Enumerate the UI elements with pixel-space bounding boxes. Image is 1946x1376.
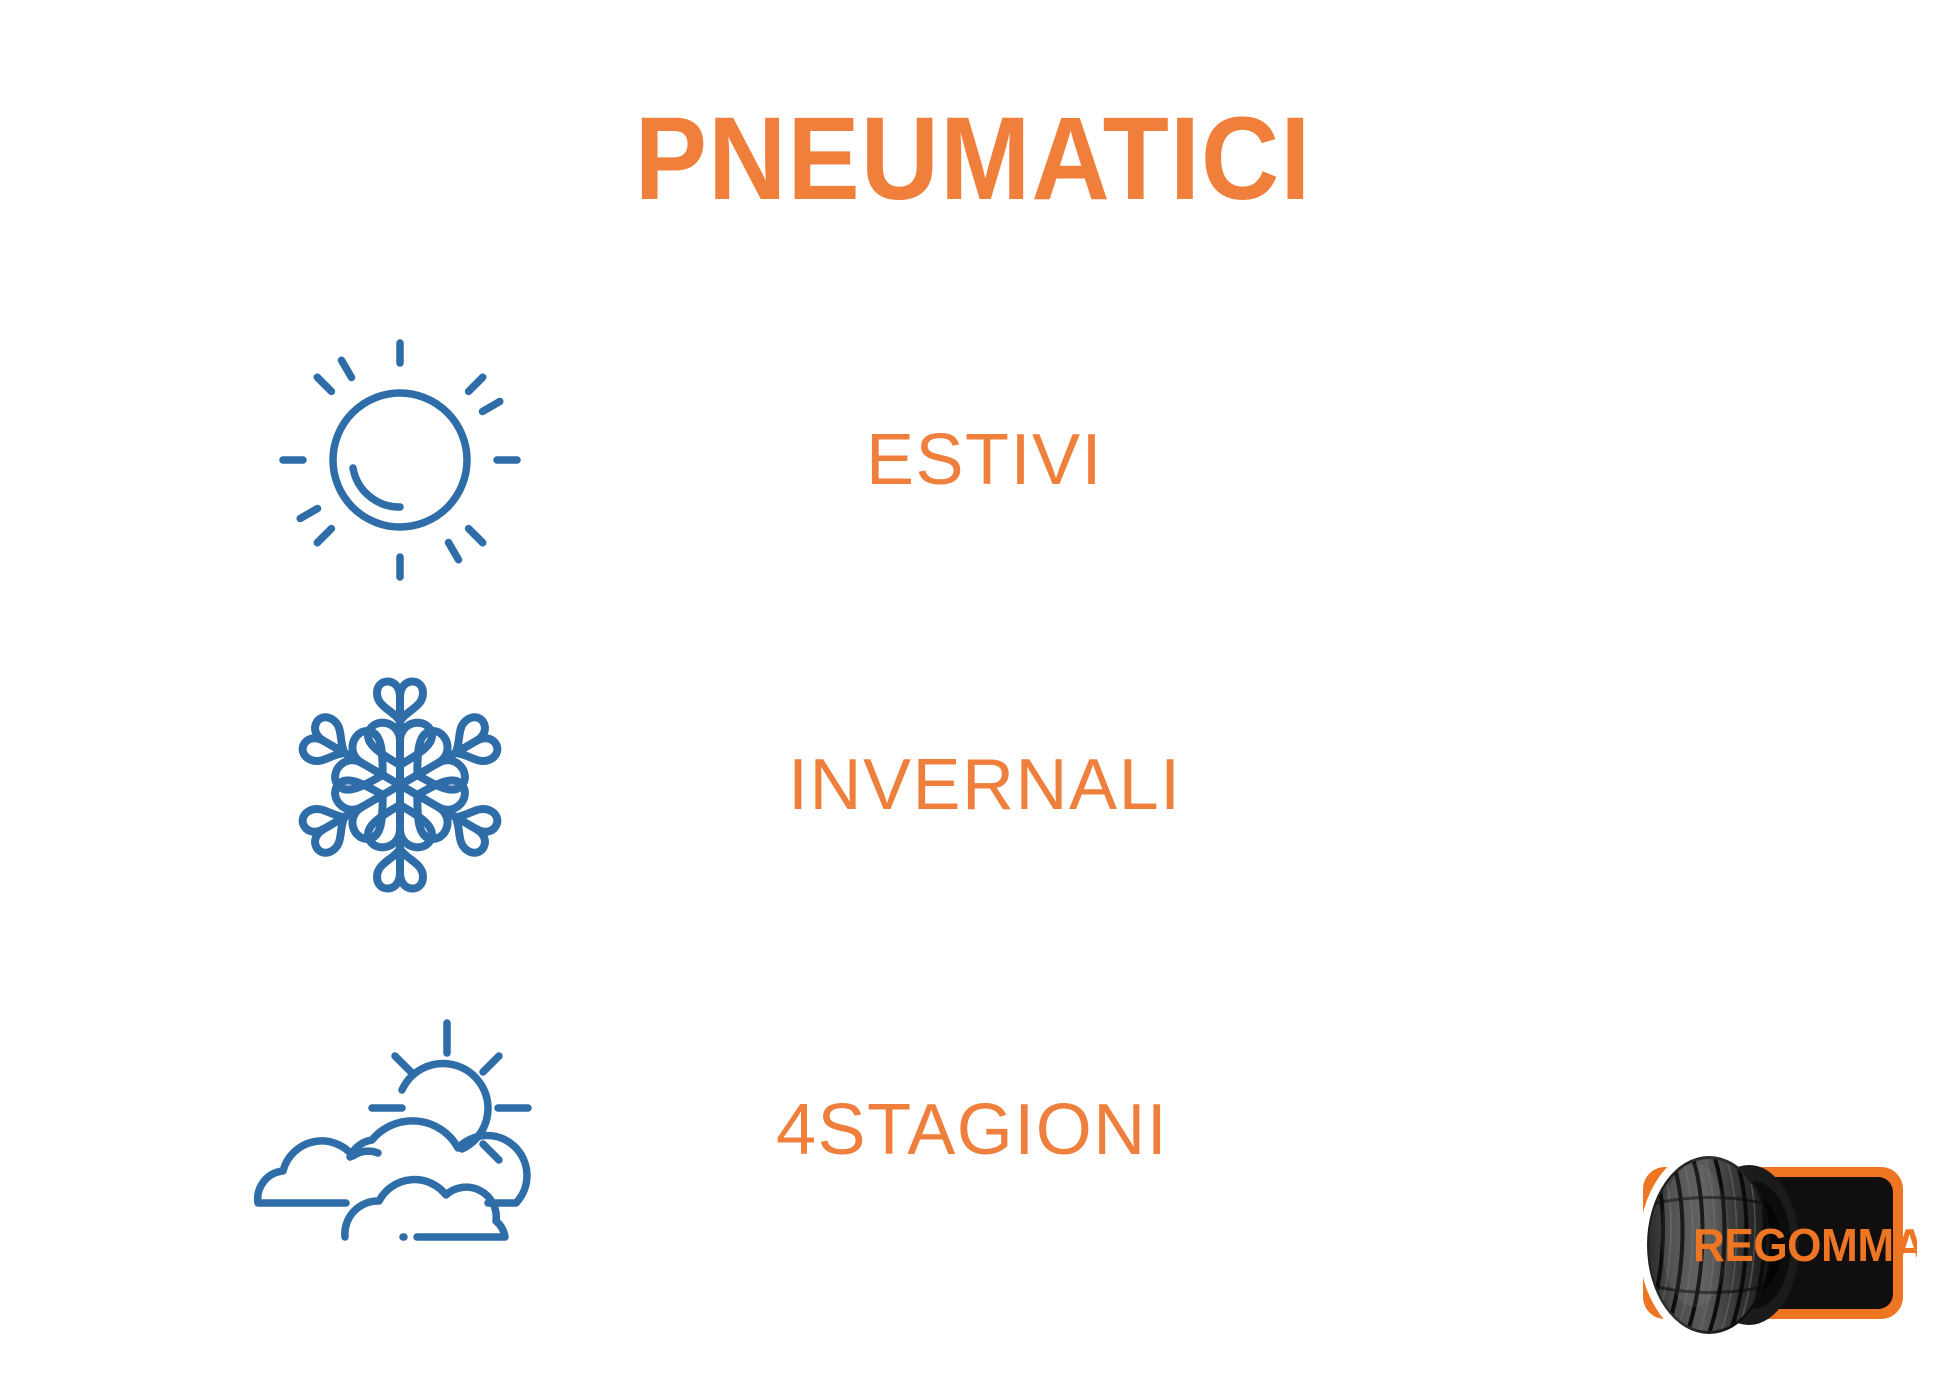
regomma-logo[interactable]: REGOMMA [1617, 1135, 1917, 1350]
page-title: PNEUMATICI [78, 100, 1868, 218]
row-estivi: ESTIVI [0, 330, 1946, 600]
snowflake-icon [250, 655, 550, 915]
row-label-invernali: INVERNALI [788, 655, 1182, 915]
row-label-estivi: ESTIVI [866, 330, 1103, 590]
logo-wordmark: REGOMMA [1693, 1219, 1917, 1271]
row-label-4stagioni: 4STAGIONI [776, 1000, 1168, 1260]
poster-canvas: PNEUMATICI [0, 0, 1946, 1376]
sun-icon [250, 330, 550, 590]
sun-behind-clouds-icon [250, 1000, 550, 1260]
row-invernali: INVERNALI [0, 655, 1946, 925]
